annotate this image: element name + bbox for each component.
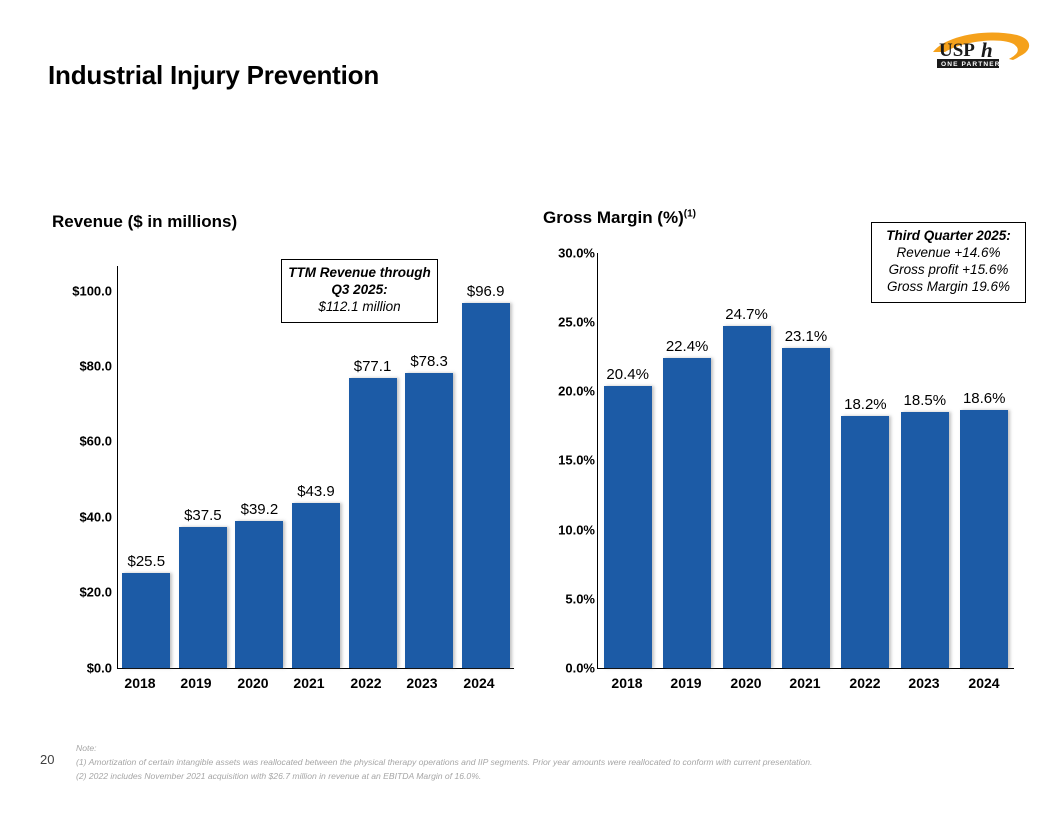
margin-chart-title-footnote: (1): [684, 208, 696, 219]
quarter-callout-heading: Third Quarter 2025:: [878, 228, 1019, 245]
margin-bar-slot-2021: 23.1%: [782, 253, 830, 668]
revenue-ytick-100: $100.0: [72, 284, 112, 299]
margin-xtick-2022: 2022: [835, 675, 895, 691]
margin-plot-area: 20.4% 22.4% 24.7% 23.1% 18.2% 18.5%: [597, 253, 1014, 669]
margin-xtick-2020: 2020: [716, 675, 776, 691]
revenue-bar-2021[interactable]: [292, 503, 340, 668]
quarter-callout-revenue: Revenue +14.6%: [878, 245, 1019, 262]
revenue-bar-label-2018: $25.5: [101, 553, 191, 570]
revenue-bar-label-2023: $78.3: [384, 353, 474, 370]
margin-bar-label-2024: 18.6%: [939, 390, 1029, 407]
revenue-xtick-2024: 2024: [443, 675, 515, 691]
revenue-plot-area: $25.5 $37.5 $39.2 $43.9 $77.1 $78.3: [117, 266, 514, 669]
margin-chart-title: Gross Margin (%)(1): [543, 208, 696, 228]
revenue-bar-slot-2024: $96.9: [462, 266, 510, 668]
footnote-heading: Note:: [76, 742, 981, 756]
revenue-bar-slot-2019: $37.5: [179, 266, 227, 668]
revenue-ytick-40: $40.0: [79, 510, 112, 525]
ttm-callout-line1: TTM Revenue through: [288, 265, 431, 282]
margin-bar-label-2020: 24.7%: [702, 306, 792, 323]
margin-bar-2018[interactable]: [604, 386, 652, 668]
margin-bar-slot-2018: 20.4%: [604, 253, 652, 668]
margin-bar-2024[interactable]: [960, 410, 1008, 668]
margin-bars: 20.4% 22.4% 24.7% 23.1% 18.2% 18.5%: [598, 253, 1014, 668]
margin-bar-label-2019: 22.4%: [642, 338, 732, 355]
margin-ytick-20: 20.0%: [558, 384, 595, 399]
revenue-bar-slot-2020: $39.2: [235, 266, 283, 668]
usph-wordmark: USP: [939, 40, 975, 61]
revenue-bars: $25.5 $37.5 $39.2 $43.9 $77.1 $78.3: [118, 266, 514, 668]
ttm-revenue-callout: TTM Revenue through Q3 2025: $112.1 mill…: [281, 259, 438, 323]
margin-ytick-10: 10.0%: [558, 523, 595, 538]
margin-bar-slot-2022: 18.2%: [841, 253, 889, 668]
margin-xtick-2024: 2024: [954, 675, 1014, 691]
margin-xtick-2021: 2021: [775, 675, 835, 691]
margin-bar-label-2021: 23.1%: [761, 328, 851, 345]
revenue-bar-2022[interactable]: [349, 378, 397, 668]
revenue-bar-label-2024: $96.9: [441, 283, 531, 300]
revenue-ytick-0: $0.0: [87, 661, 112, 676]
revenue-chart-title: Revenue ($ in millions): [52, 212, 237, 232]
usph-wordmark-h: h: [981, 38, 993, 62]
margin-bar-2019[interactable]: [663, 358, 711, 668]
margin-xtick-2018: 2018: [597, 675, 657, 691]
margin-ytick-0: 0.0%: [565, 661, 595, 676]
revenue-bar-label-2021: $43.9: [271, 483, 361, 500]
usph-logo-graphic: USP h ONE PARTNER: [925, 26, 1037, 72]
revenue-bar-slot-2023: $78.3: [405, 266, 453, 668]
margin-bar-label-2018: 20.4%: [583, 366, 673, 383]
revenue-bar-2023[interactable]: [405, 373, 453, 668]
margin-bar-slot-2024: 18.6%: [960, 253, 1008, 668]
revenue-bar-2020[interactable]: [235, 521, 283, 668]
revenue-bar-slot-2022: $77.1: [349, 266, 397, 668]
page-title: Industrial Injury Prevention: [48, 60, 379, 91]
margin-ytick-25: 25.0%: [558, 315, 595, 330]
revenue-bar-2018[interactable]: [122, 573, 170, 668]
usph-tagline: ONE PARTNER: [941, 61, 1001, 68]
footnote-1: (1) Amortization of certain intangible a…: [76, 756, 981, 770]
quarter-callout-gross-margin: Gross Margin 19.6%: [878, 279, 1019, 296]
revenue-ytick-20: $20.0: [79, 585, 112, 600]
slide-canvas: USP h ONE PARTNER Industrial Injury Prev…: [0, 0, 1056, 816]
margin-bar-slot-2023: 18.5%: [901, 253, 949, 668]
margin-chart-title-text: Gross Margin (%): [543, 208, 684, 227]
ttm-callout-line3: $112.1 million: [288, 299, 431, 316]
revenue-bar-label-2020: $39.2: [214, 501, 304, 518]
third-quarter-callout: Third Quarter 2025: Revenue +14.6% Gross…: [871, 222, 1026, 303]
ttm-callout-line2: Q3 2025:: [288, 282, 431, 299]
revenue-ytick-60: $60.0: [79, 434, 112, 449]
footnote-2: (2) 2022 includes November 2021 acquisit…: [76, 770, 981, 784]
margin-bar-2023[interactable]: [901, 412, 949, 668]
usph-logo: USP h ONE PARTNER: [925, 26, 1037, 72]
margin-ytick-5: 5.0%: [565, 592, 595, 607]
margin-bar-2022[interactable]: [841, 416, 889, 668]
margin-ytick-30: 30.0%: [558, 246, 595, 261]
margin-ytick-15: 15.0%: [558, 453, 595, 468]
quarter-callout-gross-profit: Gross profit +15.6%: [878, 262, 1019, 279]
margin-bar-2020[interactable]: [723, 326, 771, 668]
margin-xtick-2023: 2023: [894, 675, 954, 691]
margin-bar-slot-2020: 24.7%: [723, 253, 771, 668]
page-number: 20: [40, 752, 54, 767]
revenue-bar-2024[interactable]: [462, 303, 510, 668]
margin-xtick-2019: 2019: [656, 675, 716, 691]
revenue-bar-slot-2021: $43.9: [292, 266, 340, 668]
revenue-ytick-80: $80.0: [79, 359, 112, 374]
revenue-bar-slot-2018: $25.5: [122, 266, 170, 668]
revenue-bar-2019[interactable]: [179, 527, 227, 668]
footnotes: Note: (1) Amortization of certain intang…: [76, 742, 981, 784]
